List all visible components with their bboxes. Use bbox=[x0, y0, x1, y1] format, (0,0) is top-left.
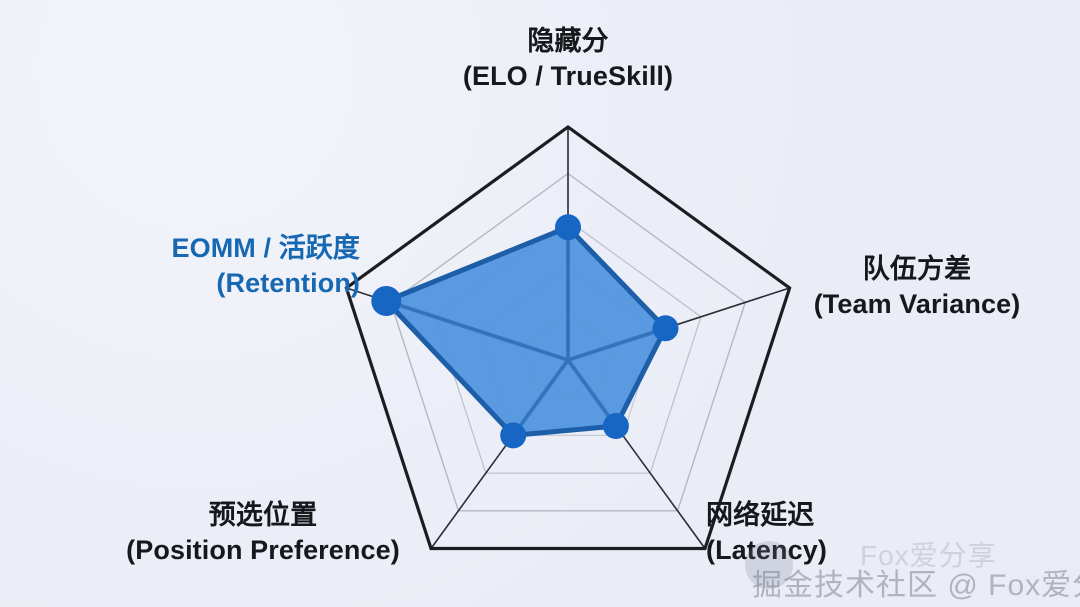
axis-label-hidden-score-cn: 隐藏分 bbox=[373, 24, 763, 59]
axis-label-retention-cn: EOMM / 活跃度 bbox=[60, 231, 360, 266]
axis-label-team-variance-cn: 队伍方差 bbox=[782, 252, 1052, 287]
axis-label-latency-en: (Latency) bbox=[706, 533, 956, 568]
axis-label-hidden-score-en: (ELO / TrueSkill) bbox=[373, 59, 763, 94]
axis-label-hidden-score: 隐藏分 (ELO / TrueSkill) bbox=[373, 24, 763, 93]
axis-label-retention: EOMM / 活跃度 (Retention) bbox=[60, 231, 360, 300]
axis-label-team-variance: 队伍方差 (Team Variance) bbox=[782, 252, 1052, 321]
data-point-retention[interactable] bbox=[371, 286, 401, 316]
axis-label-position-preference-cn: 预选位置 bbox=[88, 498, 438, 533]
axis-label-position-preference-en: (Position Preference) bbox=[88, 533, 438, 568]
axis-label-latency-cn: 网络延迟 bbox=[706, 498, 956, 533]
axis-label-position-preference: 预选位置 (Position Preference) bbox=[88, 498, 438, 567]
data-point-position-preference[interactable] bbox=[500, 422, 526, 448]
data-point-hidden-score[interactable] bbox=[555, 214, 581, 240]
axis-label-latency: 网络延迟 (Latency) bbox=[706, 498, 956, 567]
radar-chart: 隐藏分 (ELO / TrueSkill) 队伍方差 (Team Varianc… bbox=[0, 0, 1080, 607]
axis-label-team-variance-en: (Team Variance) bbox=[782, 287, 1052, 322]
axis-label-retention-en: (Retention) bbox=[60, 266, 360, 301]
data-point-latency[interactable] bbox=[603, 413, 629, 439]
data-point-team-variance[interactable] bbox=[653, 315, 679, 341]
series-polygon bbox=[386, 227, 665, 435]
